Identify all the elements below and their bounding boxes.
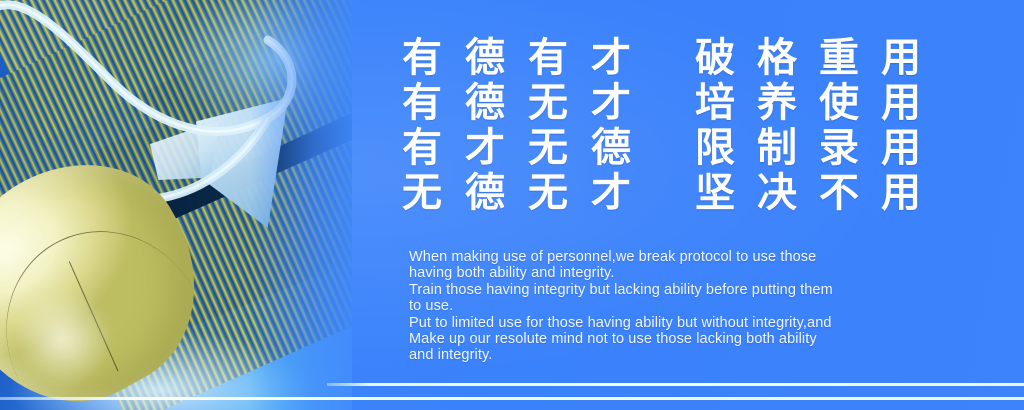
headline-char: 决 [757, 171, 820, 216]
headline-char: 使 [819, 81, 882, 126]
headline-char: 有 [402, 81, 465, 126]
headline-char: 用 [881, 171, 944, 216]
headline-left-row-3: 有 才 无 德 [402, 126, 654, 171]
headline-right-block: 破 格 重 用 培 养 使 用 限 制 录 用 坚 决 不 用 [695, 36, 943, 216]
paragraph-line: When making use of personnel,we break pr… [409, 249, 929, 265]
headline-char: 用 [881, 126, 944, 171]
headline-left-row-4: 无 德 无 才 [402, 171, 654, 216]
headline-char: 德 [591, 126, 654, 171]
headline-char: 养 [757, 81, 820, 126]
headline-char: 无 [402, 171, 465, 216]
headline-char: 用 [881, 81, 944, 126]
headline-char: 坚 [695, 171, 758, 216]
headline-char: 重 [819, 36, 882, 81]
headline-char: 德 [465, 81, 528, 126]
headline-char: 无 [528, 126, 591, 171]
headline-char: 才 [591, 171, 654, 216]
headline-char: 制 [757, 126, 820, 171]
headline-char: 录 [819, 126, 882, 171]
headline-right-row-3: 限 制 录 用 [695, 126, 943, 171]
headline-char: 限 [695, 126, 758, 171]
english-paragraph: When making use of personnel,we break pr… [409, 249, 929, 364]
headline-char: 有 [402, 36, 465, 81]
headline-char: 无 [528, 81, 591, 126]
headline-char: 破 [695, 36, 758, 81]
headline-left-row-1: 有 德 有 才 [402, 36, 654, 81]
headline-right-row-4: 坚 决 不 用 [695, 171, 943, 216]
headline-char: 德 [465, 171, 528, 216]
headline-char: 才 [465, 126, 528, 171]
headline-char: 用 [881, 36, 944, 81]
headline-char: 才 [591, 81, 654, 126]
headline-char: 有 [402, 126, 465, 171]
headline-char: 不 [819, 171, 882, 216]
headline-char: 格 [757, 36, 820, 81]
paragraph-line: Train those having integrity but lacking… [409, 282, 929, 298]
paragraph-line: having both ability and integrity. [409, 265, 929, 281]
paragraph-line: to use. [409, 298, 929, 314]
headline-char: 德 [465, 36, 528, 81]
paragraph-line: Put to limited use for those having abil… [409, 315, 929, 331]
paragraph-line: and integrity. [409, 347, 929, 363]
headline-char: 有 [528, 36, 591, 81]
books-and-mouse-photo [0, 0, 352, 410]
divider-rule-lower [0, 397, 1024, 400]
photo-to-panel-fade [250, 0, 352, 410]
headline-char: 培 [695, 81, 758, 126]
headline-right-row-2: 培 养 使 用 [695, 81, 943, 126]
headline-char: 才 [591, 36, 654, 81]
headline-char: 无 [528, 171, 591, 216]
headline-left-row-2: 有 德 无 才 [402, 81, 654, 126]
banner-root: 有 德 有 才 有 德 无 才 有 才 无 德 无 德 无 才 破 格 重 [0, 0, 1024, 410]
headline-right-row-1: 破 格 重 用 [695, 36, 943, 81]
divider-rule-upper [327, 383, 1024, 386]
paragraph-line: Make up our resolute mind not to use tho… [409, 331, 929, 347]
headline-left-block: 有 德 有 才 有 德 无 才 有 才 无 德 无 德 无 才 [402, 36, 654, 216]
